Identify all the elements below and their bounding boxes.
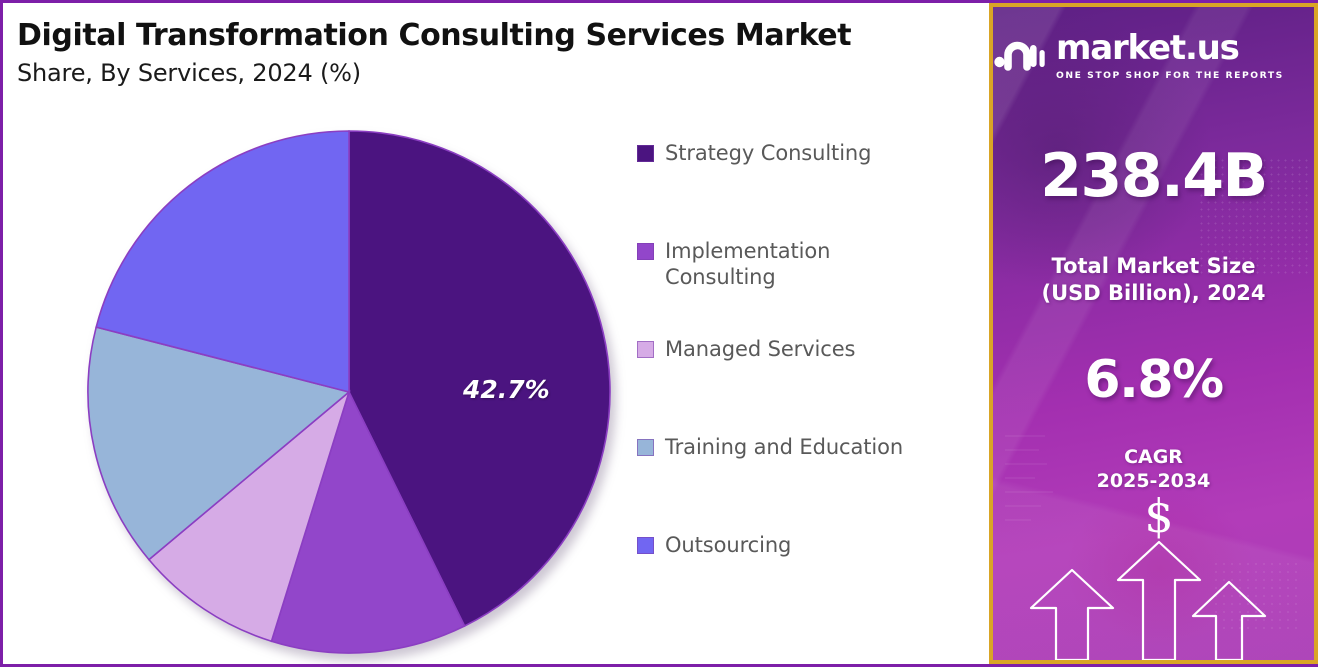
legend-swatch xyxy=(637,243,654,260)
legend-item-strategy-consulting[interactable]: Strategy Consulting xyxy=(637,141,871,167)
arrow-up-left-icon xyxy=(1031,570,1113,660)
brand-stats-panel: market.us ONE STOP SHOP FOR THE REPORTS … xyxy=(989,3,1318,664)
legend-label: Outsourcing xyxy=(665,533,791,559)
legend-item-implementation-consulting[interactable]: Implementation Consulting xyxy=(637,239,830,290)
legend-label: Implementation Consulting xyxy=(665,239,830,290)
cagr-value: 6.8% xyxy=(993,350,1314,410)
market-size-caption: Total Market Size (USD Billion), 2024 xyxy=(993,253,1314,307)
cagr-caption-line1: CAGR xyxy=(993,445,1314,469)
brand-tagline: ONE STOP SHOP FOR THE REPORTS xyxy=(1056,70,1284,81)
market-size-caption-line2: (USD Billion), 2024 xyxy=(993,280,1314,307)
legend-swatch xyxy=(637,341,654,358)
market-size-stat: 238.4B xyxy=(993,141,1314,211)
cagr-stat: 6.8% xyxy=(993,350,1314,410)
legend-label: Managed Services xyxy=(665,337,855,363)
market-us-logo-icon xyxy=(993,33,1045,79)
market-size-caption-line1: Total Market Size xyxy=(993,253,1314,280)
dollar-sign-icon: $ xyxy=(1144,490,1173,543)
legend-swatch xyxy=(637,439,654,456)
arrow-up-center-icon xyxy=(1118,542,1200,660)
growth-arrows-graphic: $ xyxy=(993,490,1318,660)
legend-swatch xyxy=(637,537,654,554)
arrow-up-right-icon xyxy=(1193,582,1265,660)
brand-name: market.us xyxy=(1056,28,1239,68)
legend-item-outsourcing[interactable]: Outsourcing xyxy=(637,533,791,559)
legend-label: Strategy Consulting xyxy=(665,141,871,167)
infographic-page: Digital Transformation Consulting Servic… xyxy=(0,0,1318,667)
title-block: Digital Transformation Consulting Servic… xyxy=(17,19,851,87)
page-subtitle: Share, By Services, 2024 (%) xyxy=(17,59,851,87)
brand-logo[interactable]: market.us ONE STOP SHOP FOR THE REPORTS xyxy=(993,31,1314,81)
legend-label: Training and Education xyxy=(665,435,903,461)
chart-panel: Digital Transformation Consulting Servic… xyxy=(3,3,989,664)
page-title: Digital Transformation Consulting Servic… xyxy=(17,19,851,53)
brand-logo-text: market.us ONE STOP SHOP FOR THE REPORTS xyxy=(1056,31,1314,81)
legend-swatch xyxy=(637,145,654,162)
legend-item-managed-services[interactable]: Managed Services xyxy=(637,337,855,363)
market-size-value: 238.4B xyxy=(993,141,1314,211)
legend-item-training-and-education[interactable]: Training and Education xyxy=(637,435,903,461)
cagr-caption: CAGR 2025-2034 xyxy=(993,445,1314,494)
slice-value-label: 42.7% xyxy=(463,375,550,404)
